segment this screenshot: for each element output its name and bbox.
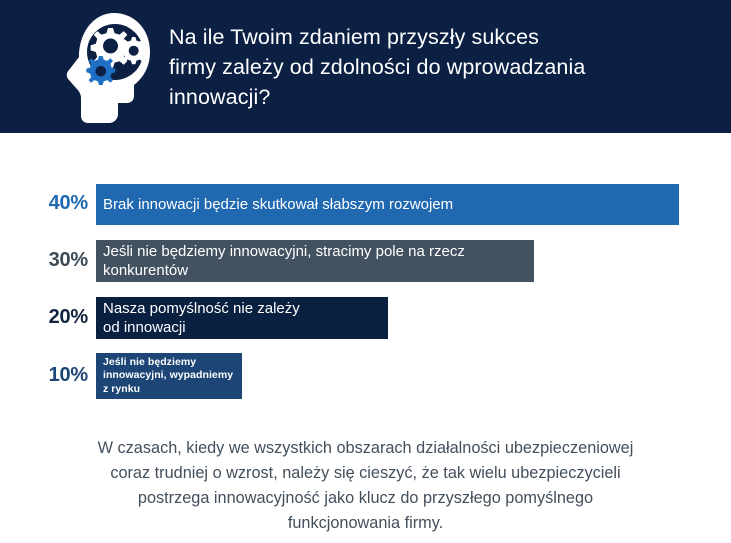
horizontal-bar-chart: 40% Brak innowacji będzie skutkował słab… <box>0 133 731 423</box>
bar-segment[interactable]: Nasza pomyślność nie zależy od innowacji <box>96 297 388 339</box>
bar-segment[interactable]: Brak innowacji będzie skutkował słabszym… <box>96 184 679 225</box>
bar-segment[interactable]: Jeśli nie będziemy innowacyjni, stracimy… <box>96 240 534 282</box>
bar-percent-label: 40% <box>0 192 88 215</box>
bar-segment[interactable]: Jeśli nie będziemy innowacyjni, wypadnie… <box>96 353 242 399</box>
bar-label-text: Nasza pomyślność nie zależy od innowacji <box>96 299 308 337</box>
bar-row: 10% Jeśli nie będziemy innowacyjni, wypa… <box>0 353 731 399</box>
page-title: Na ile Twoim zdaniem przyszły sukces fir… <box>169 22 679 112</box>
bar-row: 40% Brak innowacji będzie skutkował słab… <box>0 184 731 225</box>
bar-percent-label: 30% <box>0 249 88 272</box>
bar-row: 30% Jeśli nie będziemy innowacyjni, stra… <box>0 240 731 282</box>
header-banner: Na ile Twoim zdaniem przyszły sukces fir… <box>0 0 731 133</box>
bar-row: 20% Nasza pomyślność nie zależy od innow… <box>0 297 731 339</box>
head-with-gears-icon <box>60 10 160 125</box>
footer-caption: W czasach, kiedy we wszystkich obszarach… <box>62 436 669 536</box>
bar-label-text: Jeśli nie będziemy innowacyjni, wypadnie… <box>96 356 241 397</box>
bar-percent-label: 20% <box>0 306 88 329</box>
bar-label-text: Jeśli nie będziemy innowacyjni, stracimy… <box>96 242 473 280</box>
bar-percent-label: 10% <box>0 364 88 387</box>
bar-label-text: Brak innowacji będzie skutkował słabszym… <box>96 195 461 214</box>
